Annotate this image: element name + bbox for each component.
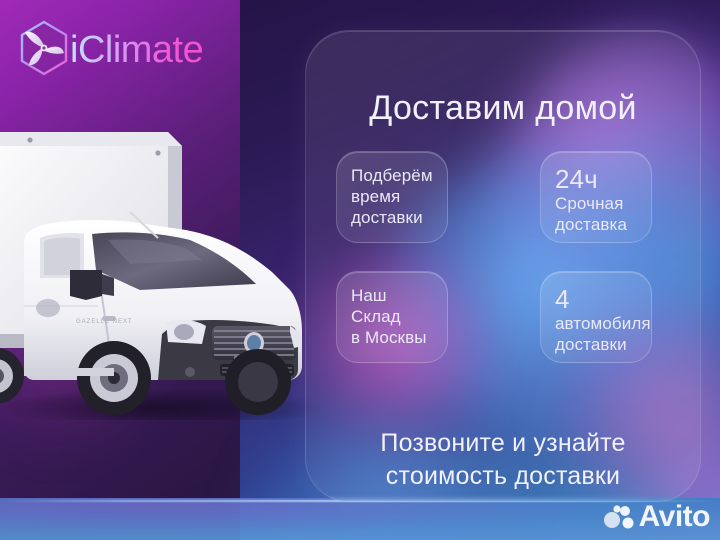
avito-wordmark: Avito — [639, 502, 710, 532]
brand-name: iClimate — [70, 31, 203, 69]
poster-canvas: GAZELLE NEXT — [0, 0, 720, 540]
hexagon-fan-icon — [14, 18, 74, 82]
avito-watermark: Avito — [604, 502, 710, 532]
page-title: Доставим домой — [306, 89, 700, 128]
avito-dots-icon — [604, 504, 634, 530]
feature-card-vehicles[interactable]: 4автомобиля доставки — [540, 271, 652, 363]
brand-logo[interactable]: iClimate — [14, 18, 203, 82]
glass-panel: Доставим домой Подберём время доставки 2… — [305, 30, 701, 502]
feature-card-delivery-time[interactable]: Подберём время доставки — [336, 151, 448, 243]
feature-card-express[interactable]: 24чСрочная доставка — [540, 151, 652, 243]
feature-card-value: 4 — [555, 286, 720, 313]
feature-card-body: 4автомобиля доставки — [555, 286, 720, 356]
feature-card-grid: Подберём время доставки 24чСрочная доста… — [330, 151, 680, 363]
feature-card-body: 24чСрочная доставка — [555, 166, 720, 236]
feature-card-label: Подберём время доставки — [351, 166, 551, 229]
feature-card-value: 24ч — [555, 166, 720, 193]
svg-text:GAZELLE NEXT: GAZELLE NEXT — [76, 319, 133, 325]
call-to-action-text: Позвоните и узнайте стоимость доставки — [306, 427, 700, 493]
white-box-truck-icon: GAZELLE NEXT — [0, 120, 320, 420]
feature-card-warehouse[interactable]: Наш Склад в Москвы — [336, 271, 448, 363]
feature-card-label: Наш Склад в Москвы — [351, 286, 551, 349]
feature-card-label: Срочная доставка — [555, 194, 627, 234]
feature-card-label: автомобиля доставки — [555, 314, 651, 354]
